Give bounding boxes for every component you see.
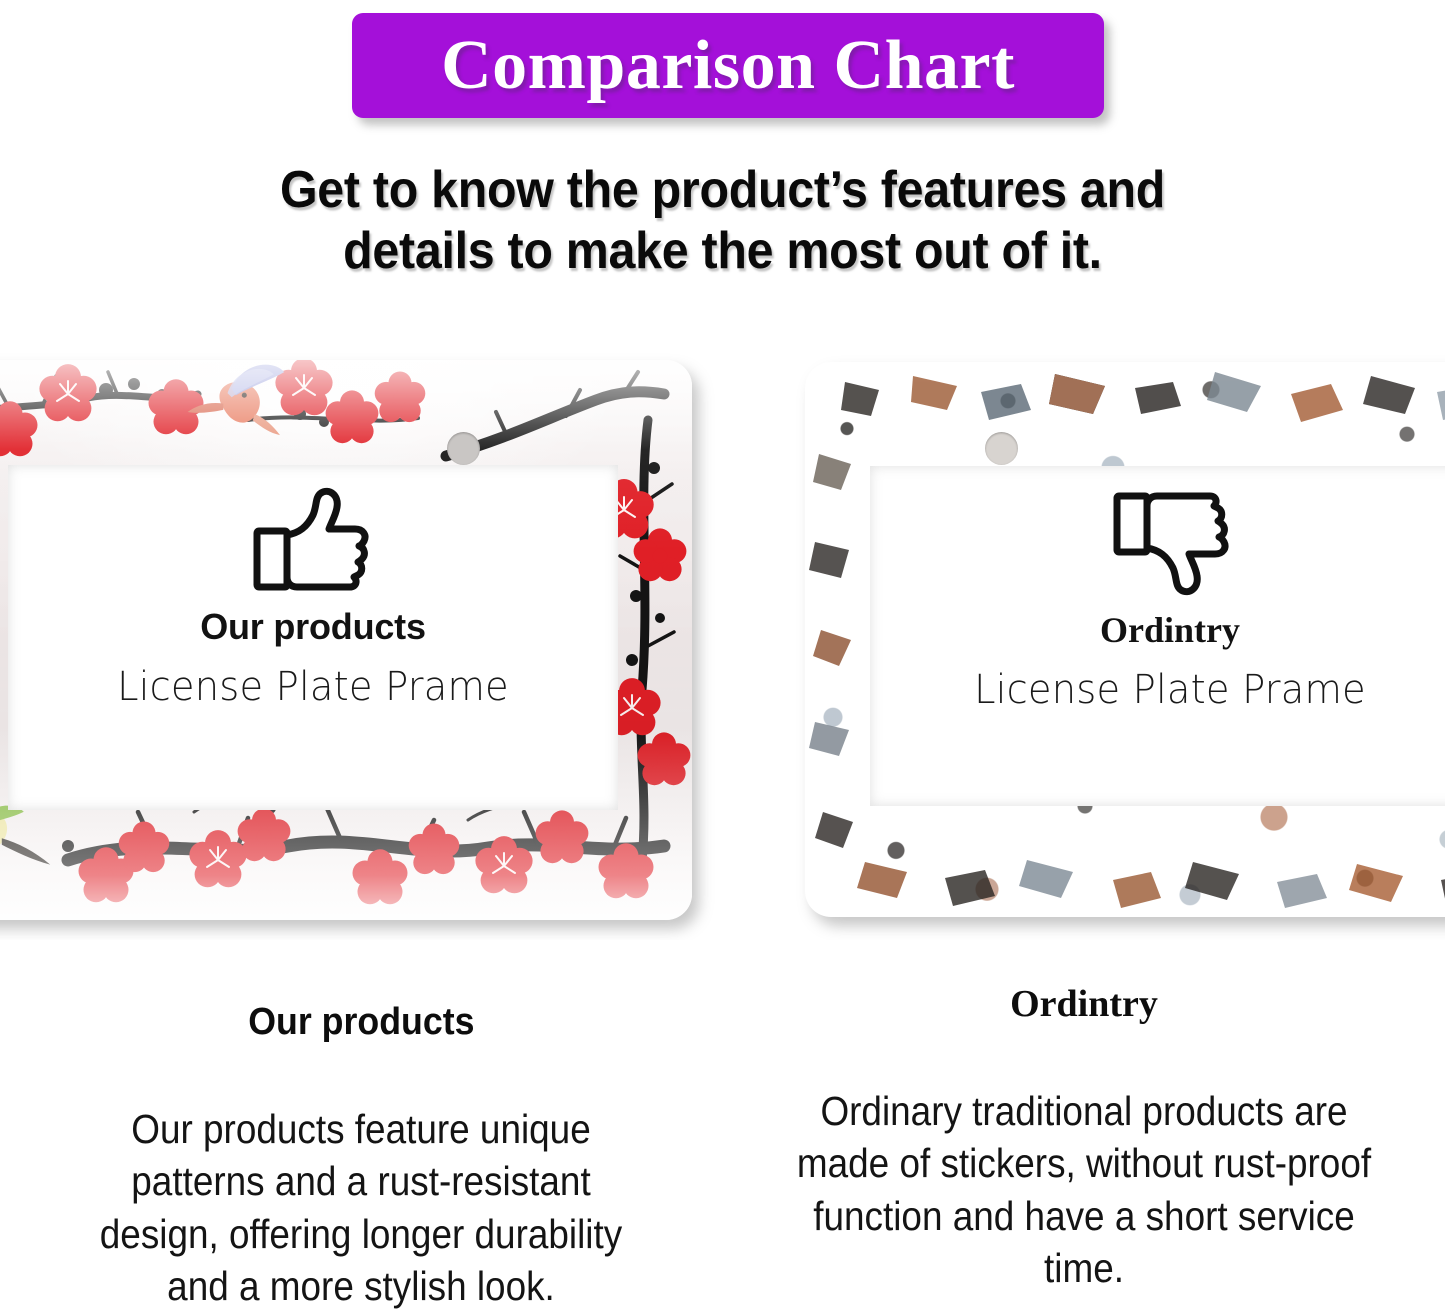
license-plate-frame-ordinary: Ordintry License Plate Prame: [805, 362, 1445, 917]
thumbs-up-icon: [251, 487, 375, 595]
mounting-hole-ordinary: [985, 432, 1018, 465]
page-subtitle-line-2: details to make the most out of it.: [51, 221, 1395, 282]
comparison-chart-page: Comparison Chart Get to know the product…: [0, 0, 1445, 1314]
comparison-descriptions: Our products Our products feature unique…: [0, 985, 1445, 1314]
page-subtitle-line-1: Get to know the product’s features and: [51, 160, 1395, 221]
thumbs-down-icon: [1111, 488, 1229, 598]
brand-label-ordinary: Ordintry: [1100, 612, 1240, 648]
description-title-ordinary: Ordintry: [1010, 983, 1158, 1025]
mounting-hole-ours: [447, 432, 480, 465]
plate-opening-ours: Our products License Plate Prame: [8, 465, 618, 810]
page-title: Comparison Chart: [441, 31, 1015, 101]
product-label-ours: License Plate Prame: [117, 667, 509, 707]
description-column-ordinary: Ordintry Ordinary traditional products a…: [723, 985, 1445, 1295]
brand-label-ours: Our products: [200, 609, 426, 645]
ordinary-product-panel: Ordintry License Plate Prame: [722, 340, 1445, 940]
page-title-banner: Comparison Chart: [352, 13, 1104, 118]
description-column-ours: Our products Our products feature unique…: [0, 985, 722, 1313]
description-title-ours: Our products: [248, 1003, 474, 1041]
plate-opening-ordinary: Ordintry License Plate Prame: [870, 466, 1445, 806]
description-body-ours: Our products feature unique patterns and…: [82, 1103, 640, 1313]
description-body-ordinary: Ordinary traditional products are made o…: [796, 1085, 1372, 1295]
our-product-panel: Our products License Plate Prame: [0, 340, 722, 940]
product-panels: Our products License Plate Prame: [0, 340, 1445, 940]
product-label-ordinary: License Plate Prame: [974, 670, 1366, 710]
hummingbird-bottom: [0, 802, 50, 884]
page-subtitle: Get to know the product’s features and d…: [51, 160, 1395, 282]
license-plate-frame-ours: Our products License Plate Prame: [0, 360, 692, 920]
